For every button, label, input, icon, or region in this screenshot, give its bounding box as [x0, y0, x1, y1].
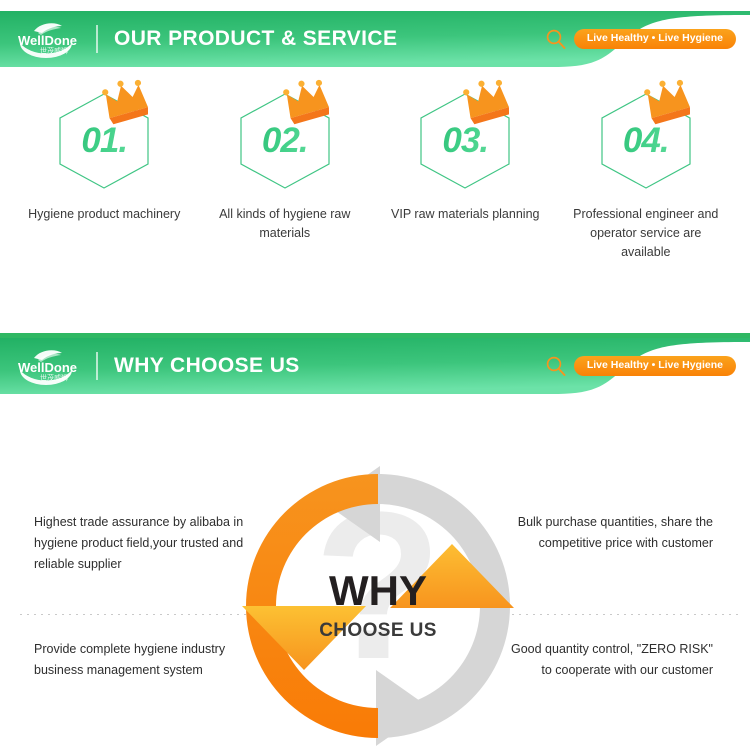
hex-badge: 03. — [417, 85, 513, 193]
page-title: WHY CHOOSE US — [114, 354, 300, 378]
product-item-03[interactable]: 03. VIP raw materials planning — [375, 85, 556, 261]
banner-divider — [96, 352, 98, 380]
product-item-02[interactable]: 02. All kinds of hygiene raw materials — [195, 85, 376, 261]
hex-caption: VIP raw materials planning — [391, 205, 539, 224]
why-choose-us-body: Highest trade assurance by alibaba in hy… — [0, 394, 750, 705]
why-cell-bottom-left: Provide complete hygiene industry busine… — [34, 639, 249, 681]
search-icon[interactable] — [545, 28, 567, 50]
banner-right-cluster: Live Healthy • Live Hygiene — [545, 11, 744, 67]
crown-icon — [279, 79, 335, 127]
svg-text:WellDone: WellDone — [18, 360, 77, 375]
hex-caption: All kinds of hygiene raw materials — [205, 205, 365, 243]
hex-badge: 02. — [237, 85, 333, 193]
crown-icon — [459, 79, 515, 127]
why-cell-bottom-right: Good quantity control, "ZERO RISK" to co… — [498, 639, 713, 681]
why-choose-us-section: WellDone 世茂威狮 WHY CHOOSE US Live Healthy… — [0, 338, 750, 711]
product-item-04[interactable]: 04. Professional engineer and operator s… — [556, 85, 737, 261]
hex-caption: Hygiene product machinery — [28, 205, 180, 224]
welldone-logo[interactable]: WellDone 世茂威狮 — [14, 344, 82, 388]
banner-right-cluster: Live Healthy • Live Hygiene — [545, 338, 744, 394]
circular-arrows-diagram: ? — [228, 456, 528, 756]
hex-badge: 01. — [56, 85, 152, 193]
svg-text:世茂威狮: 世茂威狮 — [40, 373, 68, 382]
svg-text:WellDone: WellDone — [18, 33, 77, 48]
product-items-row: 01. Hygiene product machinery — [0, 85, 750, 261]
product-service-banner: WellDone 世茂威狮 OUR PRODUCT & SERVICE Live… — [0, 11, 750, 67]
tagline-badge[interactable]: Live Healthy • Live Hygiene — [574, 29, 736, 50]
crown-icon — [640, 79, 696, 127]
why-choose-us-banner: WellDone 世茂威狮 WHY CHOOSE US Live Healthy… — [0, 338, 750, 394]
why-cell-top-left: Highest trade assurance by alibaba in hy… — [34, 512, 249, 575]
divider-left-dotted — [20, 614, 248, 615]
svg-text:世茂威狮: 世茂威狮 — [40, 46, 68, 55]
welldone-logo[interactable]: WellDone 世茂威狮 — [14, 17, 82, 61]
tagline-badge[interactable]: Live Healthy • Live Hygiene — [574, 356, 736, 377]
search-icon[interactable] — [545, 355, 567, 377]
divider-right-dotted — [512, 614, 740, 615]
why-cell-top-right: Bulk purchase quantities, share the comp… — [498, 512, 713, 554]
product-item-01[interactable]: 01. Hygiene product machinery — [14, 85, 195, 261]
crown-icon — [98, 79, 154, 127]
page-title: OUR PRODUCT & SERVICE — [114, 27, 397, 51]
banner-divider — [96, 25, 98, 53]
hex-badge: 04. — [598, 85, 694, 193]
hex-caption: Professional engineer and operator servi… — [566, 205, 726, 261]
